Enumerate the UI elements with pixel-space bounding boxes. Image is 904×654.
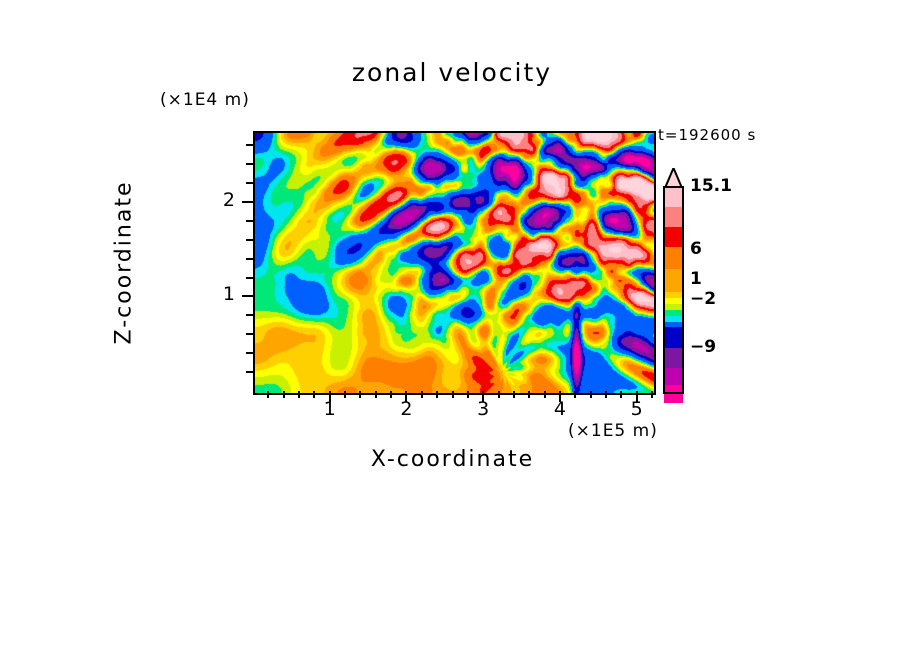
x-tick-label: 2 [391, 398, 421, 420]
colorbar-tick-label: 15.1 [690, 176, 732, 196]
x-tick-label: 5 [622, 398, 652, 420]
colorbar-arrow-icon [663, 168, 684, 188]
x-tick-label: 3 [468, 398, 498, 420]
y-tick-minor [246, 144, 253, 146]
y-tick-minor [246, 277, 253, 279]
contour-plot-area [253, 131, 656, 395]
x-tick-minor [375, 391, 377, 398]
x-tick-minor [344, 391, 346, 398]
colorbar-band [664, 227, 683, 247]
y-axis-title: Z-coordinate [112, 133, 137, 393]
colorbar-tick-label: −2 [690, 289, 716, 309]
y-tick-label: 1 [205, 283, 235, 305]
y-tick-minor [246, 163, 253, 165]
x-tick-minor [267, 391, 269, 398]
x-axis-title: X-coordinate [253, 447, 652, 472]
y-tick-minor [246, 182, 253, 184]
x-tick-label: 4 [545, 398, 575, 420]
y-tick-minor [246, 333, 253, 335]
y-tick-major [242, 201, 253, 203]
colorbar [664, 187, 683, 393]
colorbar-tick-label: −9 [690, 337, 716, 357]
x-tick-minor [651, 391, 653, 398]
y-tick-major [242, 295, 253, 297]
x-tick-minor [544, 391, 546, 398]
colorbar-band [664, 187, 683, 207]
x-tick-minor [574, 391, 576, 398]
y-tick-minor [246, 371, 253, 373]
colorbar-band [664, 348, 683, 368]
x-tick-minor [390, 391, 392, 398]
y-tick-minor [246, 239, 253, 241]
x-tick-minor [605, 391, 607, 398]
y-tick-minor [246, 314, 253, 316]
x-tick-minor [452, 391, 454, 398]
x-tick-minor [421, 391, 423, 398]
colorbar-band [664, 207, 683, 227]
x-tick-minor [313, 391, 315, 398]
velocity-field [255, 133, 654, 393]
colorbar-tick-label: 6 [690, 239, 702, 259]
colorbar-band [664, 247, 683, 269]
colorbar-band [664, 327, 683, 348]
colorbar-band [664, 385, 683, 403]
x-tick-minor [467, 391, 469, 398]
x-tick-minor [528, 391, 530, 398]
colorbar-tick-label: 1 [690, 269, 702, 289]
y-tick-minor [246, 258, 253, 260]
x-tick-minor [498, 391, 500, 398]
x-tick-minor [620, 391, 622, 398]
x-axis-unit-label: (×1E5 m) [568, 421, 658, 441]
x-tick-minor [283, 391, 285, 398]
x-tick-label: 1 [315, 398, 345, 420]
colorbar-band [664, 269, 683, 292]
colorbar-band [664, 368, 683, 385]
y-tick-minor [246, 220, 253, 222]
y-axis-unit-label: (×1E4 m) [160, 90, 250, 110]
time-annotation: t=192600 s [658, 126, 756, 144]
page-title: zonal velocity [0, 58, 904, 87]
x-tick-minor [513, 391, 515, 398]
x-tick-minor [590, 391, 592, 398]
y-tick-label: 2 [205, 189, 235, 211]
x-tick-minor [298, 391, 300, 398]
figure-canvas: zonal velocity (×1E4 m) (×1E5 m) t=19260… [0, 0, 904, 654]
x-tick-minor [436, 391, 438, 398]
x-tick-minor [359, 391, 361, 398]
y-tick-minor [246, 352, 253, 354]
